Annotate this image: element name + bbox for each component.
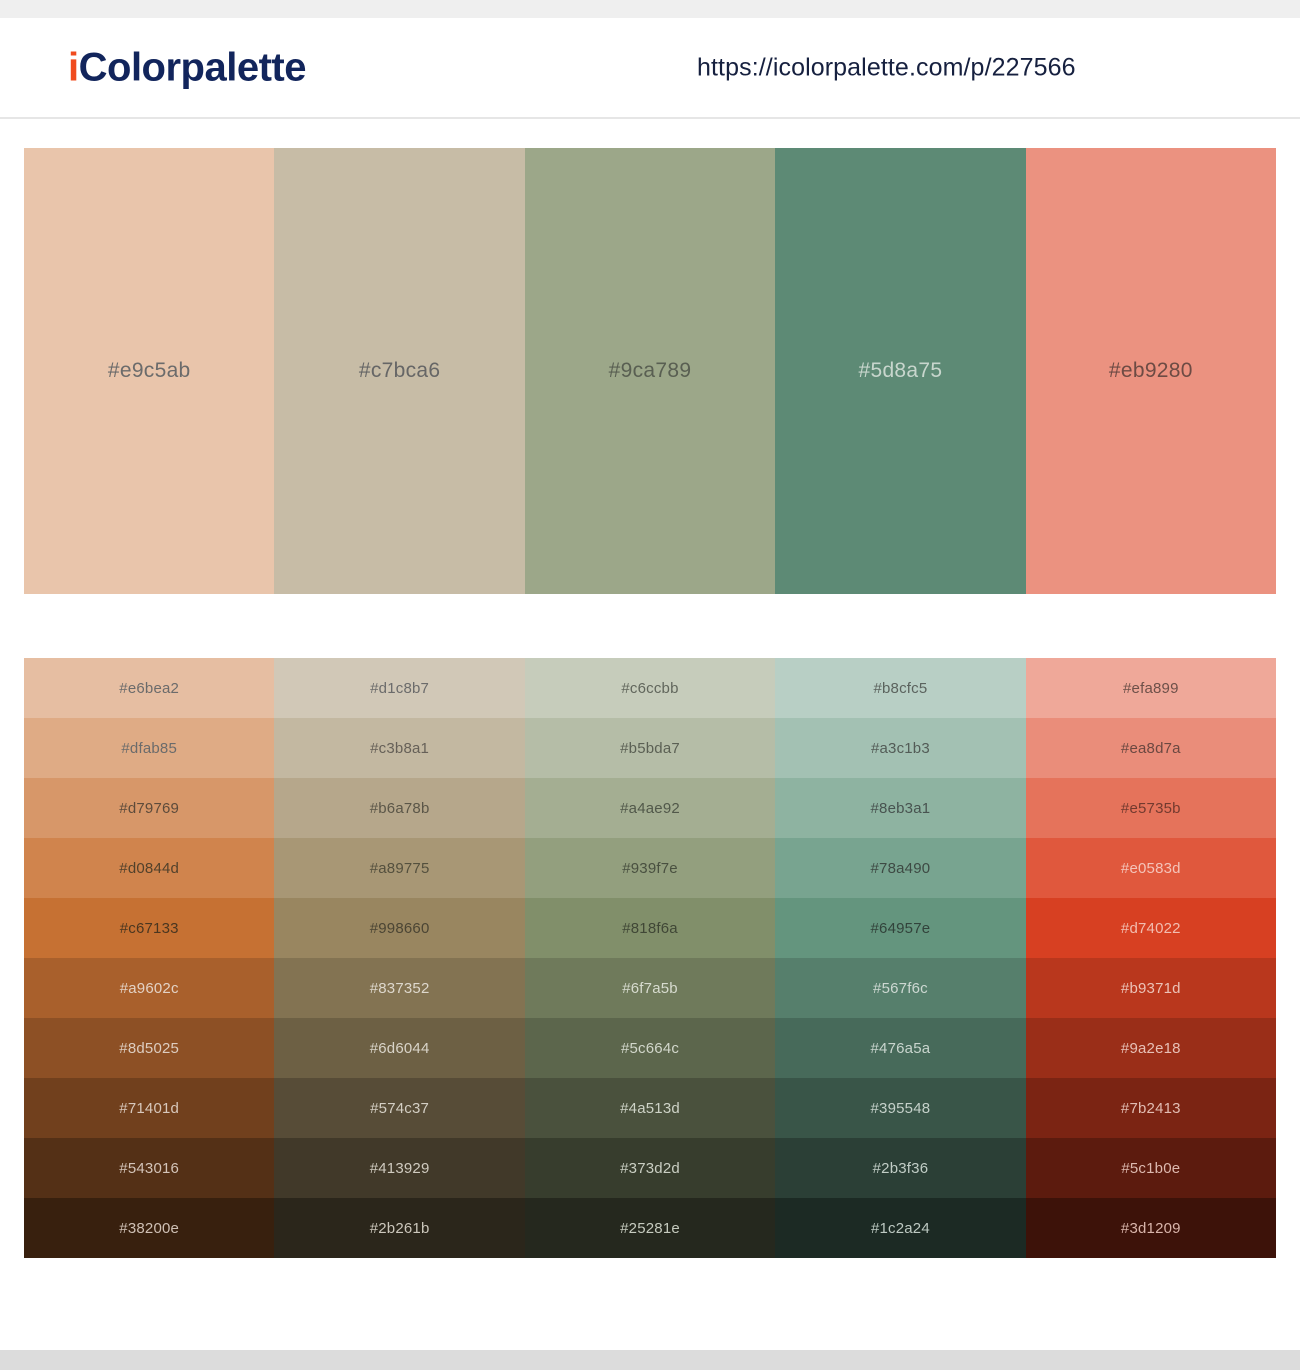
shade-cell[interactable]: #c67133: [24, 898, 274, 958]
shade-cell-hex: #5c1b0e: [1121, 1160, 1180, 1177]
shade-cell[interactable]: #a4ae92: [525, 778, 775, 838]
shade-cell-hex: #3d1209: [1121, 1220, 1181, 1237]
main-palette-strip: #e9c5ab#c7bca6#9ca789#5d8a75#eb9280: [24, 148, 1276, 594]
page-url[interactable]: https://icolorpalette.com/p/227566: [697, 53, 1076, 82]
shade-cell[interactable]: #a3c1b3: [775, 718, 1025, 778]
shade-cell[interactable]: #a9602c: [24, 958, 274, 1018]
shade-cell-hex: #567f6c: [873, 980, 928, 997]
shade-cell-hex: #d74022: [1121, 920, 1181, 937]
logo-wordmark: Colorpalette: [79, 45, 306, 89]
shade-cell-hex: #5c664c: [621, 1040, 679, 1057]
shade-cell[interactable]: #78a490: [775, 838, 1025, 898]
shade-cell-hex: #b6a78b: [370, 800, 430, 817]
shade-cell-hex: #837352: [370, 980, 430, 997]
shade-row: #d0844d#a89775#939f7e#78a490#e0583d: [24, 838, 1276, 898]
shade-cell[interactable]: #dfab85: [24, 718, 274, 778]
palette-swatch-hex: #e9c5ab: [108, 359, 191, 383]
shade-cell-hex: #b5bda7: [620, 740, 680, 757]
shades-grid: #e6bea2#d1c8b7#c6ccbb#b8cfc5#efa899#dfab…: [24, 658, 1276, 1258]
shade-cell[interactable]: #837352: [274, 958, 524, 1018]
shade-cell-hex: #413929: [370, 1160, 430, 1177]
shade-cell[interactable]: #939f7e: [525, 838, 775, 898]
shade-cell[interactable]: #7b2413: [1026, 1078, 1276, 1138]
shade-cell[interactable]: #a89775: [274, 838, 524, 898]
shade-cell-hex: #6f7a5b: [622, 980, 678, 997]
shade-cell[interactable]: #998660: [274, 898, 524, 958]
shade-cell-hex: #4a513d: [620, 1100, 680, 1117]
shade-cell-hex: #e6bea2: [119, 680, 179, 697]
shade-row: #a9602c#837352#6f7a5b#567f6c#b9371d: [24, 958, 1276, 1018]
shade-cell-hex: #2b261b: [370, 1220, 430, 1237]
shade-cell[interactable]: #25281e: [525, 1198, 775, 1258]
shade-cell[interactable]: #c3b8a1: [274, 718, 524, 778]
shade-cell-hex: #b8cfc5: [873, 680, 927, 697]
shade-cell[interactable]: #1c2a24: [775, 1198, 1025, 1258]
shade-row: #c67133#998660#818f6a#64957e#d74022: [24, 898, 1276, 958]
palette-swatch[interactable]: #eb9280: [1026, 148, 1276, 594]
shade-cell[interactable]: #d79769: [24, 778, 274, 838]
shade-cell[interactable]: #d1c8b7: [274, 658, 524, 718]
shade-cell-hex: #8d5025: [119, 1040, 179, 1057]
shade-cell[interactable]: #d74022: [1026, 898, 1276, 958]
shade-cell[interactable]: #e5735b: [1026, 778, 1276, 838]
shade-row: #e6bea2#d1c8b7#c6ccbb#b8cfc5#efa899: [24, 658, 1276, 718]
shade-cell[interactable]: #b9371d: [1026, 958, 1276, 1018]
shade-cell-hex: #b9371d: [1121, 980, 1181, 997]
palette-swatch-hex: #c7bca6: [359, 359, 441, 383]
shade-cell-hex: #543016: [119, 1160, 179, 1177]
shade-cell-hex: #d0844d: [119, 860, 179, 877]
shade-cell-hex: #e0583d: [1121, 860, 1181, 877]
shade-cell-hex: #a9602c: [120, 980, 179, 997]
shade-cell-hex: #25281e: [620, 1220, 680, 1237]
shade-row: #8d5025#6d6044#5c664c#476a5a#9a2e18: [24, 1018, 1276, 1078]
shade-cell[interactable]: #373d2d: [525, 1138, 775, 1198]
shade-cell[interactable]: #b5bda7: [525, 718, 775, 778]
palette-swatch[interactable]: #5d8a75: [775, 148, 1025, 594]
shade-cell-hex: #c6ccbb: [621, 680, 678, 697]
shade-cell-hex: #6d6044: [370, 1040, 430, 1057]
shade-cell[interactable]: #476a5a: [775, 1018, 1025, 1078]
shade-cell[interactable]: #574c37: [274, 1078, 524, 1138]
shade-cell[interactable]: #2b3f36: [775, 1138, 1025, 1198]
palette-swatch-hex: #eb9280: [1109, 359, 1193, 383]
color-palette-page: iColorpalette https://icolorpalette.com/…: [0, 0, 1300, 1370]
shade-cell[interactable]: #b8cfc5: [775, 658, 1025, 718]
shade-cell[interactable]: #b6a78b: [274, 778, 524, 838]
shade-cell-hex: #574c37: [370, 1100, 429, 1117]
shade-cell[interactable]: #6f7a5b: [525, 958, 775, 1018]
shade-cell-hex: #d1c8b7: [370, 680, 429, 697]
shade-cell-hex: #efa899: [1123, 680, 1179, 697]
shade-cell-hex: #939f7e: [622, 860, 678, 877]
shade-cell-hex: #a3c1b3: [871, 740, 930, 757]
palette-swatch[interactable]: #c7bca6: [274, 148, 524, 594]
shade-cell[interactable]: #efa899: [1026, 658, 1276, 718]
shade-cell-hex: #71401d: [119, 1100, 179, 1117]
site-header: iColorpalette https://icolorpalette.com/…: [0, 18, 1300, 119]
shade-cell[interactable]: #413929: [274, 1138, 524, 1198]
top-gray-strip: [0, 0, 1300, 18]
shade-cell[interactable]: #8d5025: [24, 1018, 274, 1078]
shade-cell-hex: #8eb3a1: [871, 800, 931, 817]
shade-cell[interactable]: #e0583d: [1026, 838, 1276, 898]
shade-cell[interactable]: #543016: [24, 1138, 274, 1198]
logo-i-letter: i: [68, 45, 79, 89]
shade-cell[interactable]: #5c664c: [525, 1018, 775, 1078]
shade-cell-hex: #9a2e18: [1121, 1040, 1181, 1057]
shade-row: #71401d#574c37#4a513d#395548#7b2413: [24, 1078, 1276, 1138]
shade-cell-hex: #998660: [370, 920, 430, 937]
shade-cell-hex: #2b3f36: [873, 1160, 929, 1177]
shade-cell[interactable]: #ea8d7a: [1026, 718, 1276, 778]
shade-cell-hex: #a4ae92: [620, 800, 680, 817]
shade-cell[interactable]: #4a513d: [525, 1078, 775, 1138]
shade-cell-hex: #395548: [871, 1100, 931, 1117]
palette-swatch-hex: #5d8a75: [858, 359, 942, 383]
shade-row: #d79769#b6a78b#a4ae92#8eb3a1#e5735b: [24, 778, 1276, 838]
shade-cell-hex: #e5735b: [1121, 800, 1181, 817]
site-logo[interactable]: iColorpalette: [68, 45, 306, 90]
shade-row: #38200e#2b261b#25281e#1c2a24#3d1209: [24, 1198, 1276, 1258]
bottom-gray-strip: [0, 1350, 1300, 1370]
shade-cell[interactable]: #8eb3a1: [775, 778, 1025, 838]
palette-swatch[interactable]: #9ca789: [525, 148, 775, 594]
shade-cell[interactable]: #3d1209: [1026, 1198, 1276, 1258]
shade-cell-hex: #64957e: [871, 920, 931, 937]
shade-cell[interactable]: #c6ccbb: [525, 658, 775, 718]
palette-swatch[interactable]: #e9c5ab: [24, 148, 274, 594]
shade-cell-hex: #ea8d7a: [1121, 740, 1181, 757]
shade-cell-hex: #7b2413: [1121, 1100, 1181, 1117]
shade-cell[interactable]: #2b261b: [274, 1198, 524, 1258]
shade-cell-hex: #38200e: [119, 1220, 179, 1237]
shade-cell-hex: #373d2d: [620, 1160, 680, 1177]
shade-cell[interactable]: #818f6a: [525, 898, 775, 958]
shade-cell-hex: #476a5a: [871, 1040, 931, 1057]
shade-cell[interactable]: #567f6c: [775, 958, 1025, 1018]
shade-cell-hex: #c67133: [120, 920, 179, 937]
shade-cell[interactable]: #e6bea2: [24, 658, 274, 718]
shade-cell[interactable]: #9a2e18: [1026, 1018, 1276, 1078]
shade-cell-hex: #818f6a: [622, 920, 678, 937]
shade-cell[interactable]: #395548: [775, 1078, 1025, 1138]
palette-swatch-hex: #9ca789: [609, 359, 692, 383]
shade-cell-hex: #78a490: [871, 860, 931, 877]
shade-cell-hex: #c3b8a1: [370, 740, 429, 757]
shade-cell[interactable]: #38200e: [24, 1198, 274, 1258]
shade-cell-hex: #1c2a24: [871, 1220, 930, 1237]
shade-cell[interactable]: #5c1b0e: [1026, 1138, 1276, 1198]
shade-cell[interactable]: #71401d: [24, 1078, 274, 1138]
shade-row: #543016#413929#373d2d#2b3f36#5c1b0e: [24, 1138, 1276, 1198]
shade-cell[interactable]: #d0844d: [24, 838, 274, 898]
shade-cell-hex: #d79769: [119, 800, 179, 817]
shade-cell[interactable]: #6d6044: [274, 1018, 524, 1078]
shade-cell[interactable]: #64957e: [775, 898, 1025, 958]
shade-cell-hex: #a89775: [370, 860, 430, 877]
shade-cell-hex: #dfab85: [121, 740, 177, 757]
shade-row: #dfab85#c3b8a1#b5bda7#a3c1b3#ea8d7a: [24, 718, 1276, 778]
